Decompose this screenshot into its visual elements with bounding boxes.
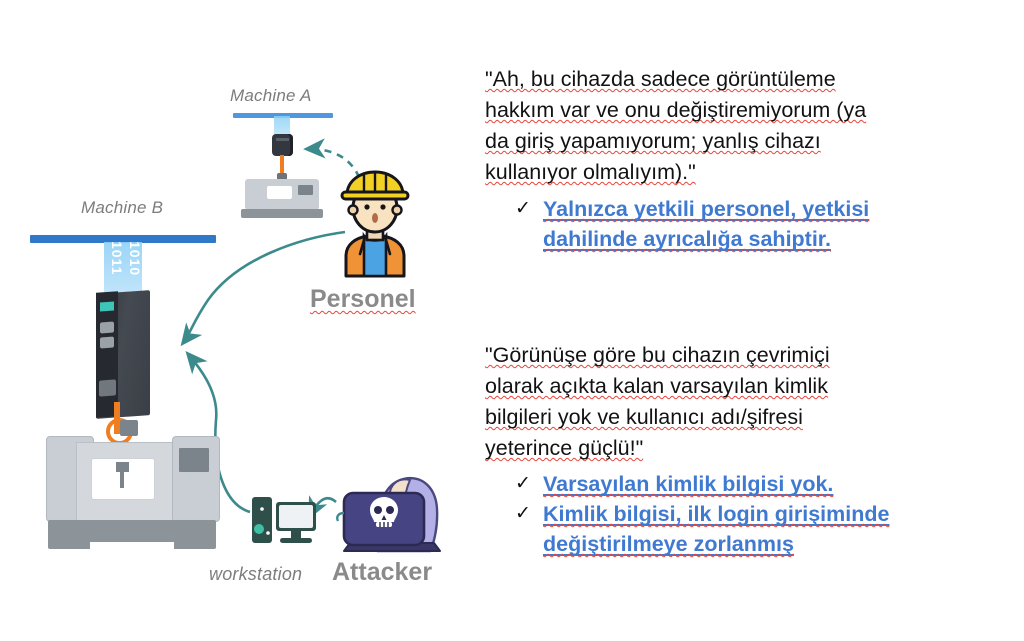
- quote-two-line-3-text: bilgileri yok ve kullanıcı adı/şifresi: [485, 405, 803, 429]
- binary-column-left: 1011: [108, 242, 125, 275]
- network-diagram: Machine A Machine B 1011 1010: [0, 0, 470, 641]
- quote-one-bullet-1: ✓ Yalnızca yetkili personel, yetkisi dah…: [509, 194, 1015, 254]
- personel-label: Personel: [310, 285, 416, 314]
- bullet-one-line-1[interactable]: Yalnızca yetkili personel, yetkisi: [543, 194, 869, 224]
- quote-one-line-3: da giriş yapamıyorum; yanlış cihazı: [485, 126, 1015, 157]
- bullet-one-line-2-text: dahilinde ayrıcalığa sahiptir.: [543, 227, 831, 251]
- attacker-avatar: [336, 455, 446, 555]
- quote-two-line-4-text: yeterince güçlü!": [485, 436, 643, 460]
- machine-b-cnc-panel: [179, 448, 209, 472]
- check-icon: ✓: [509, 194, 543, 224]
- quote-two-line-1: "Görünüşe göre bu cihazın çevrimiçi: [485, 340, 1015, 371]
- machine-a-cnc-panel: [298, 185, 313, 195]
- bullet-one-line-1-text: Yalnızca yetkili personel, yetkisi: [543, 197, 869, 221]
- quote-block-one: "Ah, bu cihazda sadece görüntüleme hakkı…: [485, 64, 1015, 254]
- commentary-panel: "Ah, bu cihazda sadece görüntüleme hakkı…: [480, 0, 1024, 641]
- bullet-two-b-line-1-text: Kimlik bilgisi, ilk login girişiminde: [543, 502, 889, 526]
- quote-two-bullet-2: ✓ Kimlik bilgisi, ilk login girişiminde …: [509, 499, 1015, 559]
- workstation-icon: [250, 493, 320, 549]
- quote-two-line-2: olarak açıkta kalan varsayılan kimlik: [485, 371, 1015, 402]
- machine-b-cnc-foot-notch: [90, 542, 174, 554]
- worker-icon: [334, 168, 416, 278]
- slide-canvas: Machine A Machine B 1011 1010: [0, 0, 1024, 641]
- bullet-one-text-wrap[interactable]: Yalnızca yetkili personel, yetkisi dahil…: [543, 194, 869, 254]
- machine-a-gateway-vent: [276, 138, 289, 141]
- machine-b-label: Machine B: [81, 198, 163, 218]
- desktop-pc-icon: [250, 493, 320, 549]
- quote-block-two: "Görünüşe göre bu cihazın çevrimiçi olar…: [485, 340, 1015, 559]
- machine-b-group: 1011 1010: [18, 230, 248, 560]
- binary-column-right: 1010: [126, 242, 142, 276]
- machine-b-cable-plug: [120, 420, 138, 436]
- quote-two-line-4: yeterince güçlü!": [485, 433, 1015, 464]
- attacker-label: Attacker: [332, 558, 432, 587]
- machine-a-cnc-base: [241, 209, 323, 218]
- quote-two-bullet-1: ✓ Varsayılan kimlik bilgisi yok.: [509, 469, 1015, 499]
- personel-avatar: [334, 168, 416, 278]
- quote-two-line-3: bilgileri yok ve kullanıcı adı/şifresi: [485, 402, 1015, 433]
- quote-two-line-1-text: "Görünüşe göre bu cihazın çevrimiçi: [485, 343, 830, 367]
- bullet-two-b-line-2-text: değiştirilmeye zorlanmış: [543, 532, 794, 556]
- check-icon: ✓: [509, 499, 543, 529]
- quote-one-line-1-text: "Ah, bu cihazda sadece görüntüleme: [485, 67, 836, 91]
- quote-one-line-2-text: hakkım var ve onu değiştiremiyorum (ya: [485, 98, 866, 122]
- quote-one-line-4: kullanıyor olmalıyım).": [485, 157, 1015, 188]
- bullet-two-a-text-wrap[interactable]: Varsayılan kimlik bilgisi yok.: [543, 469, 833, 499]
- machine-a-cnc-window: [267, 186, 292, 199]
- machine-b-gateway-port-1: [100, 322, 114, 334]
- hacker-icon: [336, 455, 446, 555]
- workstation-label: workstation: [209, 564, 302, 585]
- bullet-one-line-2[interactable]: dahilinde ayrıcalığa sahiptir.: [543, 224, 869, 254]
- check-icon: ✓: [509, 469, 543, 499]
- quote-one-line-1: "Ah, bu cihazda sadece görüntüleme: [485, 64, 1015, 95]
- bullet-two-b-line-1[interactable]: Kimlik bilgisi, ilk login girişiminde: [543, 499, 889, 529]
- machine-b-cnc-drill-bit: [120, 472, 124, 488]
- quote-one-line-2: hakkım var ve onu değiştiremiyorum (ya: [485, 95, 1015, 126]
- quote-two-line-2-text: olarak açıkta kalan varsayılan kimlik: [485, 374, 828, 398]
- bullet-two-b-text-wrap[interactable]: Kimlik bilgisi, ilk login girişiminde de…: [543, 499, 889, 559]
- machine-b-gateway-led: [100, 302, 114, 312]
- machine-b-cnc-drill-head: [116, 462, 129, 472]
- machine-b-gateway-port-2: [100, 337, 114, 349]
- bullet-two-a-line-1[interactable]: Varsayılan kimlik bilgisi yok.: [543, 469, 833, 499]
- quote-one-line-3-text: da giriş yapamıyorum; yanlış cihazı: [485, 129, 821, 153]
- bullet-two-b-line-2[interactable]: değiştirilmeye zorlanmış: [543, 529, 889, 559]
- bullet-two-a-line-1-text: Varsayılan kimlik bilgisi yok.: [543, 472, 833, 496]
- machine-a-label: Machine A: [230, 86, 312, 106]
- quote-one-line-4-text: kullanıyor olmalıyım).": [485, 160, 696, 184]
- machine-b-gateway-connector: [99, 379, 116, 396]
